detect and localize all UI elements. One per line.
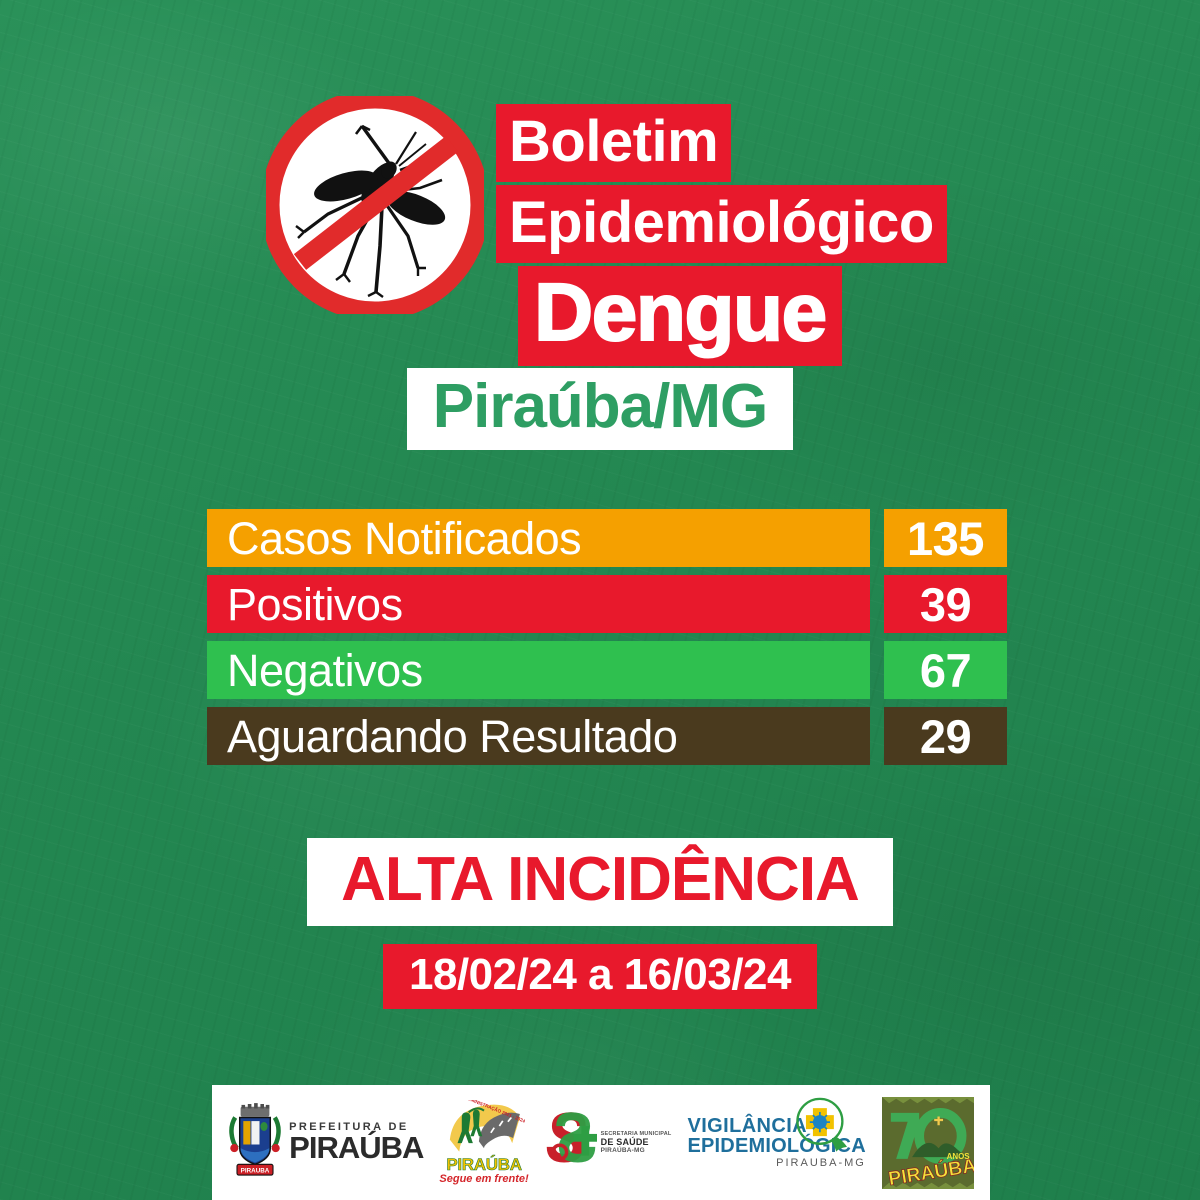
title-line-1: Boletim	[496, 104, 731, 182]
row-label-casos-notificados: Casos Notificados	[207, 509, 870, 567]
date-range-banner: 18/02/24 a 16/03/24	[0, 944, 1200, 1009]
svg-text:ANOS: ANOS	[946, 1151, 969, 1160]
row-value-negativos: 67	[884, 641, 1007, 699]
row-value-positivos: 39	[884, 575, 1007, 633]
statistics-table: Casos Notificados 135 Positivos 39 Negat…	[207, 509, 1007, 773]
logo-prefeitura: PIRAUBA PREFEITURA DE PIRAÚBA	[228, 1101, 423, 1184]
table-row: Negativos 67	[207, 641, 1007, 699]
row-label-negativos: Negativos	[207, 641, 870, 699]
magnifier-cross-virus-icon	[792, 1095, 854, 1162]
header: Boletim Epidemiológico Dengue	[0, 0, 1200, 340]
administracao-name: PIRAÚBA	[446, 1156, 521, 1173]
alert-banner: ALTA INCIDÊNCIA	[0, 838, 1200, 926]
logo-vigilancia-epidemiologica: VIGILÂNCIA EPIDEMIOLÓGICA PIRAUBA-MG	[687, 1116, 865, 1170]
row-value-casos-notificados: 135	[884, 509, 1007, 567]
table-row: Aguardando Resultado 29	[207, 707, 1007, 765]
title-line-2: Epidemiológico	[496, 185, 947, 263]
logo-70-anos: PIRAÚBA ANOS	[882, 1097, 974, 1189]
table-row: Positivos 39	[207, 575, 1007, 633]
header-titles: Boletim Epidemiológico Dengue	[496, 104, 1136, 366]
date-range-label: 18/02/24 a 16/03/24	[383, 944, 817, 1009]
row-value-aguardando-resultado: 29	[884, 707, 1007, 765]
saude-line-2: DE SAÚDE	[601, 1137, 672, 1147]
no-mosquito-icon	[266, 96, 484, 314]
road-silhouette-icon: ADMINISTRAÇÃO 2021 - 2024	[443, 1100, 525, 1156]
row-label-positivos: Positivos	[207, 575, 870, 633]
logo-secretaria-saude: SECRETARIA MUNICIPAL DE SAÚDE PIRAÚBA-MG	[545, 1107, 672, 1178]
prefeitura-big-label: PIRAÚBA	[289, 1134, 423, 1163]
health-cross-icon	[545, 1107, 597, 1178]
table-row: Casos Notificados 135	[207, 509, 1007, 567]
logo-administracao: ADMINISTRAÇÃO 2021 - 2024 PIRAÚBA Segue …	[439, 1100, 528, 1185]
city-banner: Piraúba/MG	[0, 368, 1200, 450]
svg-text:PIRAUBA: PIRAUBA	[241, 1167, 270, 1174]
administracao-tagline: Segue em frente!	[439, 1174, 528, 1185]
city-label: Piraúba/MG	[407, 368, 794, 450]
footer-logo-bar: PIRAUBA PREFEITURA DE PIRAÚBA ADMINISTRA…	[212, 1085, 990, 1200]
coat-of-arms-icon: PIRAUBA	[228, 1101, 282, 1184]
title-line-3: Dengue	[518, 266, 842, 366]
alert-label: ALTA INCIDÊNCIA	[307, 838, 893, 926]
saude-line-3: PIRAÚBA-MG	[601, 1147, 672, 1154]
row-label-aguardando-resultado: Aguardando Resultado	[207, 707, 870, 765]
